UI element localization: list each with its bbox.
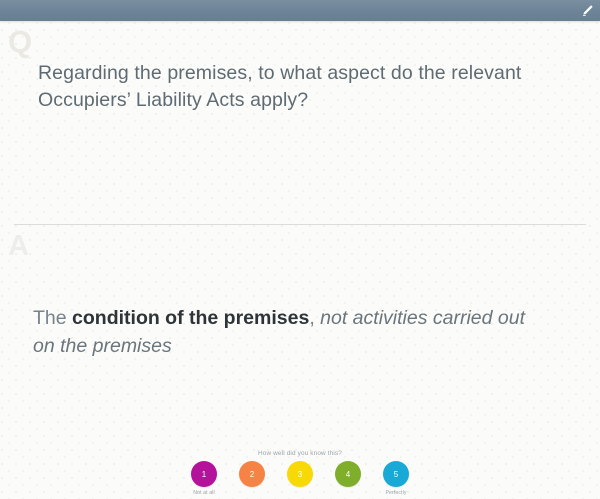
edit-pencil-button[interactable] xyxy=(578,2,596,19)
rating-label-min: Not at all xyxy=(193,490,214,497)
answer-lead: The xyxy=(33,307,72,329)
answer-text: The condition of the premises, not activ… xyxy=(33,305,543,360)
rating-dot-2[interactable]: 2 xyxy=(239,461,265,487)
answer-separator: , xyxy=(309,307,320,329)
rating-dot-5[interactable]: 5 xyxy=(383,461,409,487)
rating-option-2[interactable]: 2 xyxy=(234,461,271,497)
rating-title: How well did you know this? xyxy=(0,450,600,457)
question-watermark: Q xyxy=(8,26,32,57)
top-bar xyxy=(0,0,600,21)
rating-dot-3[interactable]: 3 xyxy=(287,461,313,487)
rating-dot-4[interactable]: 4 xyxy=(335,461,361,487)
pencil-icon xyxy=(581,4,594,17)
answer-watermark: A xyxy=(8,232,29,261)
answer-emphasis: condition of the premises xyxy=(72,307,309,329)
rating-option-1[interactable]: 1 Not at all xyxy=(186,461,223,497)
rating-dot-1[interactable]: 1 xyxy=(191,461,217,487)
rating-panel: How well did you know this? 1 Not at all… xyxy=(0,450,600,497)
rating-label-max: Perfectly xyxy=(385,490,406,497)
rating-option-4[interactable]: 4 xyxy=(330,461,367,497)
section-divider xyxy=(14,224,586,225)
rating-option-5[interactable]: 5 Perfectly xyxy=(378,461,415,497)
rating-options: 1 Not at all 2 3 4 5 Perfectly xyxy=(0,461,600,497)
flashcard-app: Q A Regarding the premises, to what aspe… xyxy=(0,0,600,499)
rating-option-3[interactable]: 3 xyxy=(282,461,319,497)
question-text: Regarding the premises, to what aspect d… xyxy=(38,60,538,114)
